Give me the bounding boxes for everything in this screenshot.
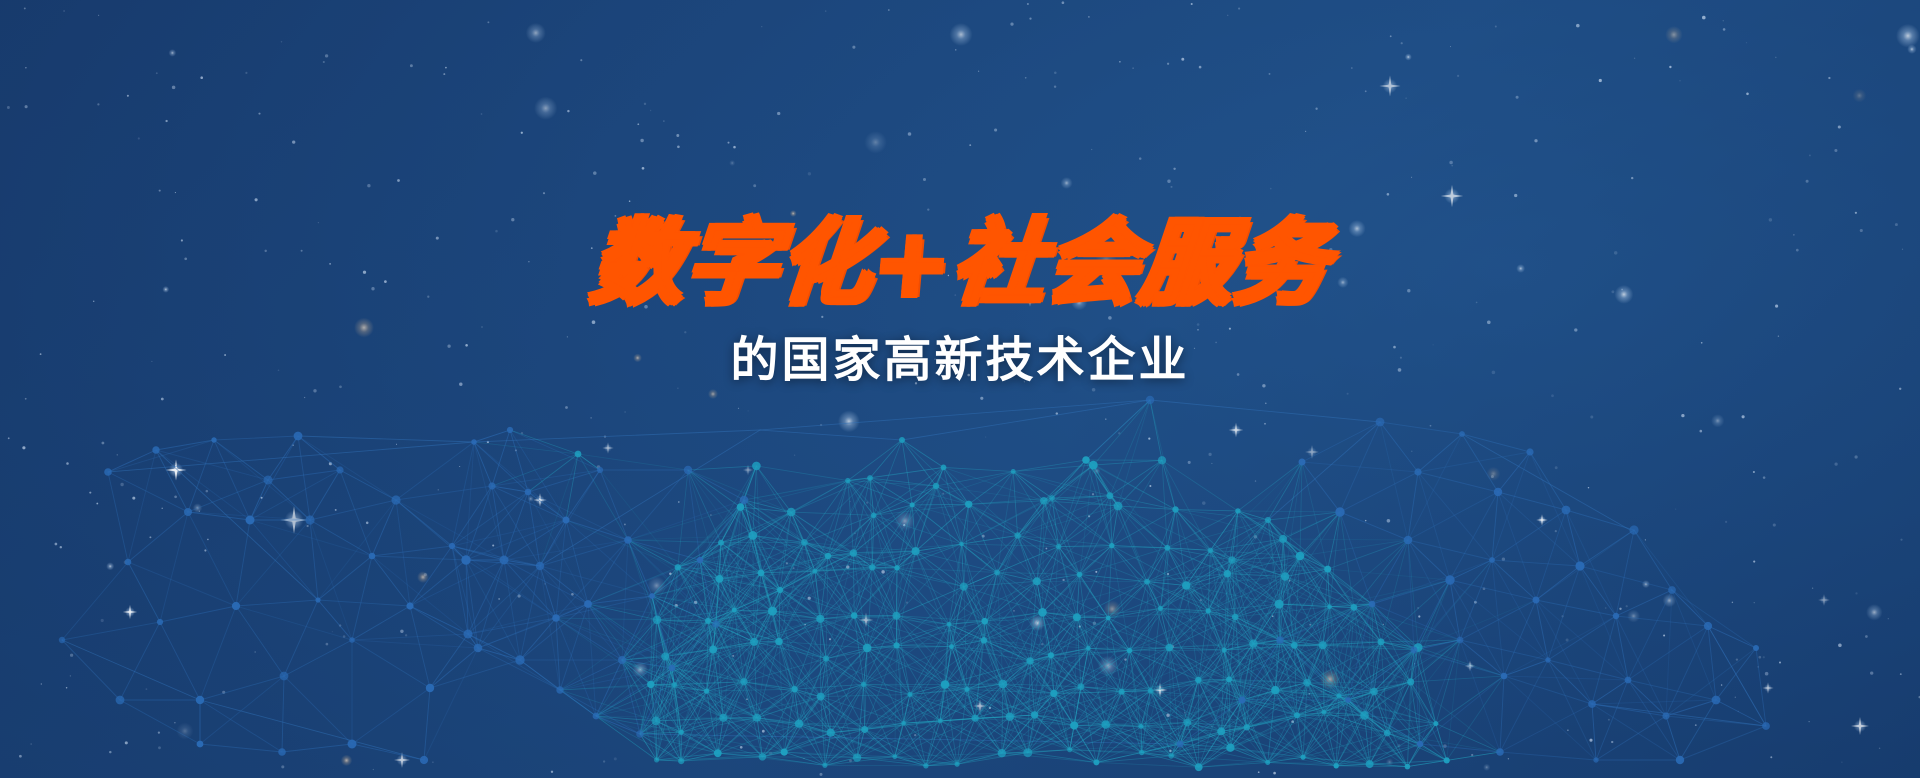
network-mesh-layer (0, 0, 1920, 778)
hero-banner: 数字化+社会服务 的国家高新技术企业 (0, 0, 1920, 778)
network-mesh-svg (0, 0, 1920, 778)
